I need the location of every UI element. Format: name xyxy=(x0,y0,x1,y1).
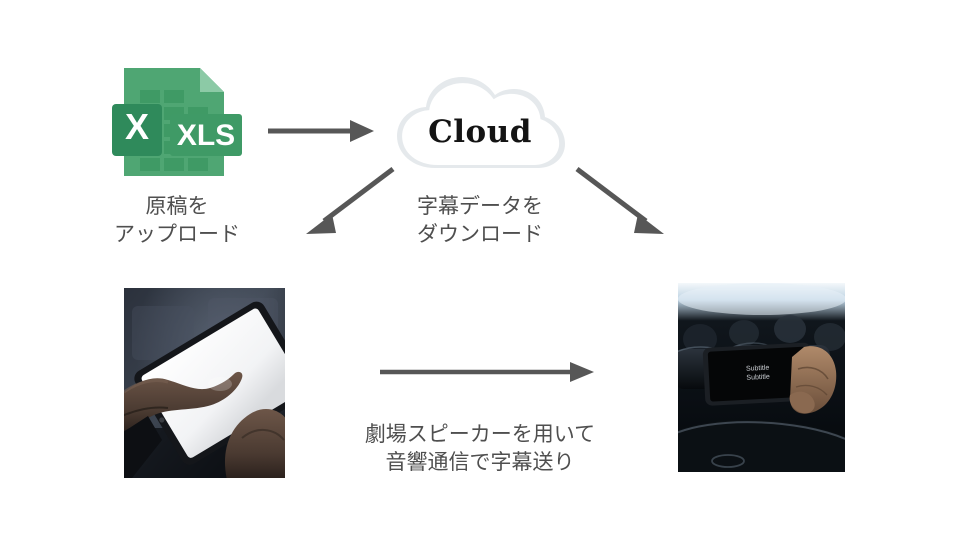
cloud-icon: Cloud xyxy=(383,68,577,180)
tablet-in-hands-photo xyxy=(124,288,285,478)
caption-download: 字幕データを ダウンロード xyxy=(385,192,575,249)
arrow-cloud-to-cinema xyxy=(573,166,678,240)
phone-subtitle-line1: Subtitle xyxy=(746,365,770,373)
caption-upload: 原稿を アップロード xyxy=(92,192,262,249)
diagram-canvas: X XLS 原稿を アップロード Cloud 字幕データを ダウンロード xyxy=(0,0,960,540)
phone-subtitle-line2: Subtitle xyxy=(746,374,770,382)
arrow-file-to-cloud xyxy=(266,116,376,146)
cloud-label: Cloud xyxy=(383,68,577,180)
svg-text:XLS: XLS xyxy=(177,119,235,152)
caption-delivery: 劇場スピーカーを用いて 音響通信で字幕送り xyxy=(330,420,630,477)
excel-xls-file-icon: X XLS xyxy=(112,66,242,178)
arrow-cloud-to-tablet xyxy=(292,166,397,240)
svg-text:X: X xyxy=(125,106,149,147)
smartphone-in-cinema-photo: Subtitle Subtitle xyxy=(678,283,845,472)
arrow-tablet-to-cinema xyxy=(378,358,596,386)
